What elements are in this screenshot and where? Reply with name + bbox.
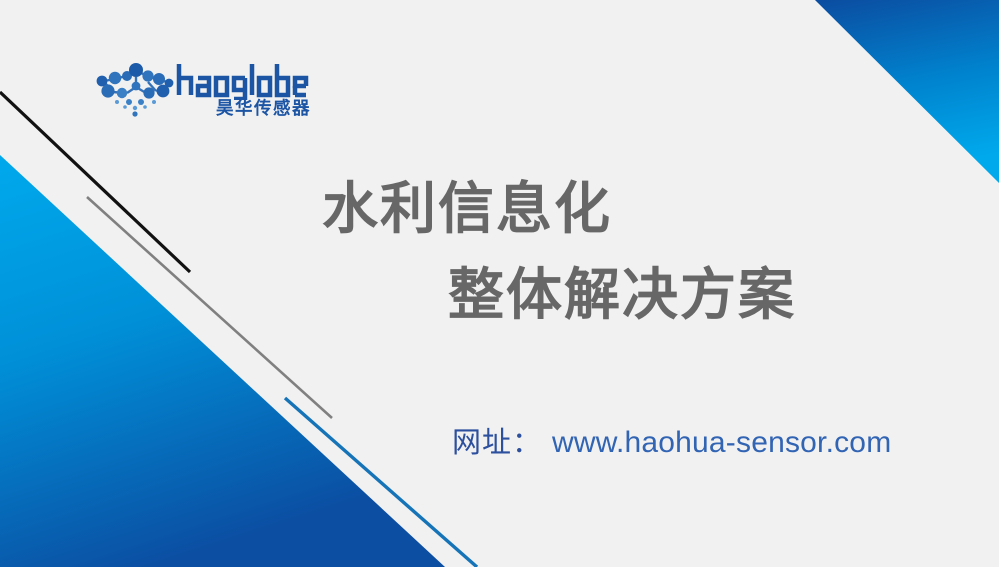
brand-subtext: 昊华传感器 [197,95,311,121]
page-title: 水利信息化 整体解决方案 [300,166,900,338]
title-line-1: 水利信息化 [300,166,900,252]
haoglobe-network-dots-logo-icon [96,60,174,118]
presentation-title-slide: 昊华传感器 水利信息化 整体解决方案 网址： www.haohua-sensor… [0,0,999,567]
title-line-2: 整体解决方案 [300,252,900,338]
website-label: 网址： [452,419,542,461]
website-line: 网址： www.haohua-sensor.com [452,419,891,461]
brand-logo: 昊华传感器 [96,58,311,124]
haoglobe-wordmark [176,60,311,100]
website-url[interactable]: www.haohua-sensor.com [552,426,891,460]
